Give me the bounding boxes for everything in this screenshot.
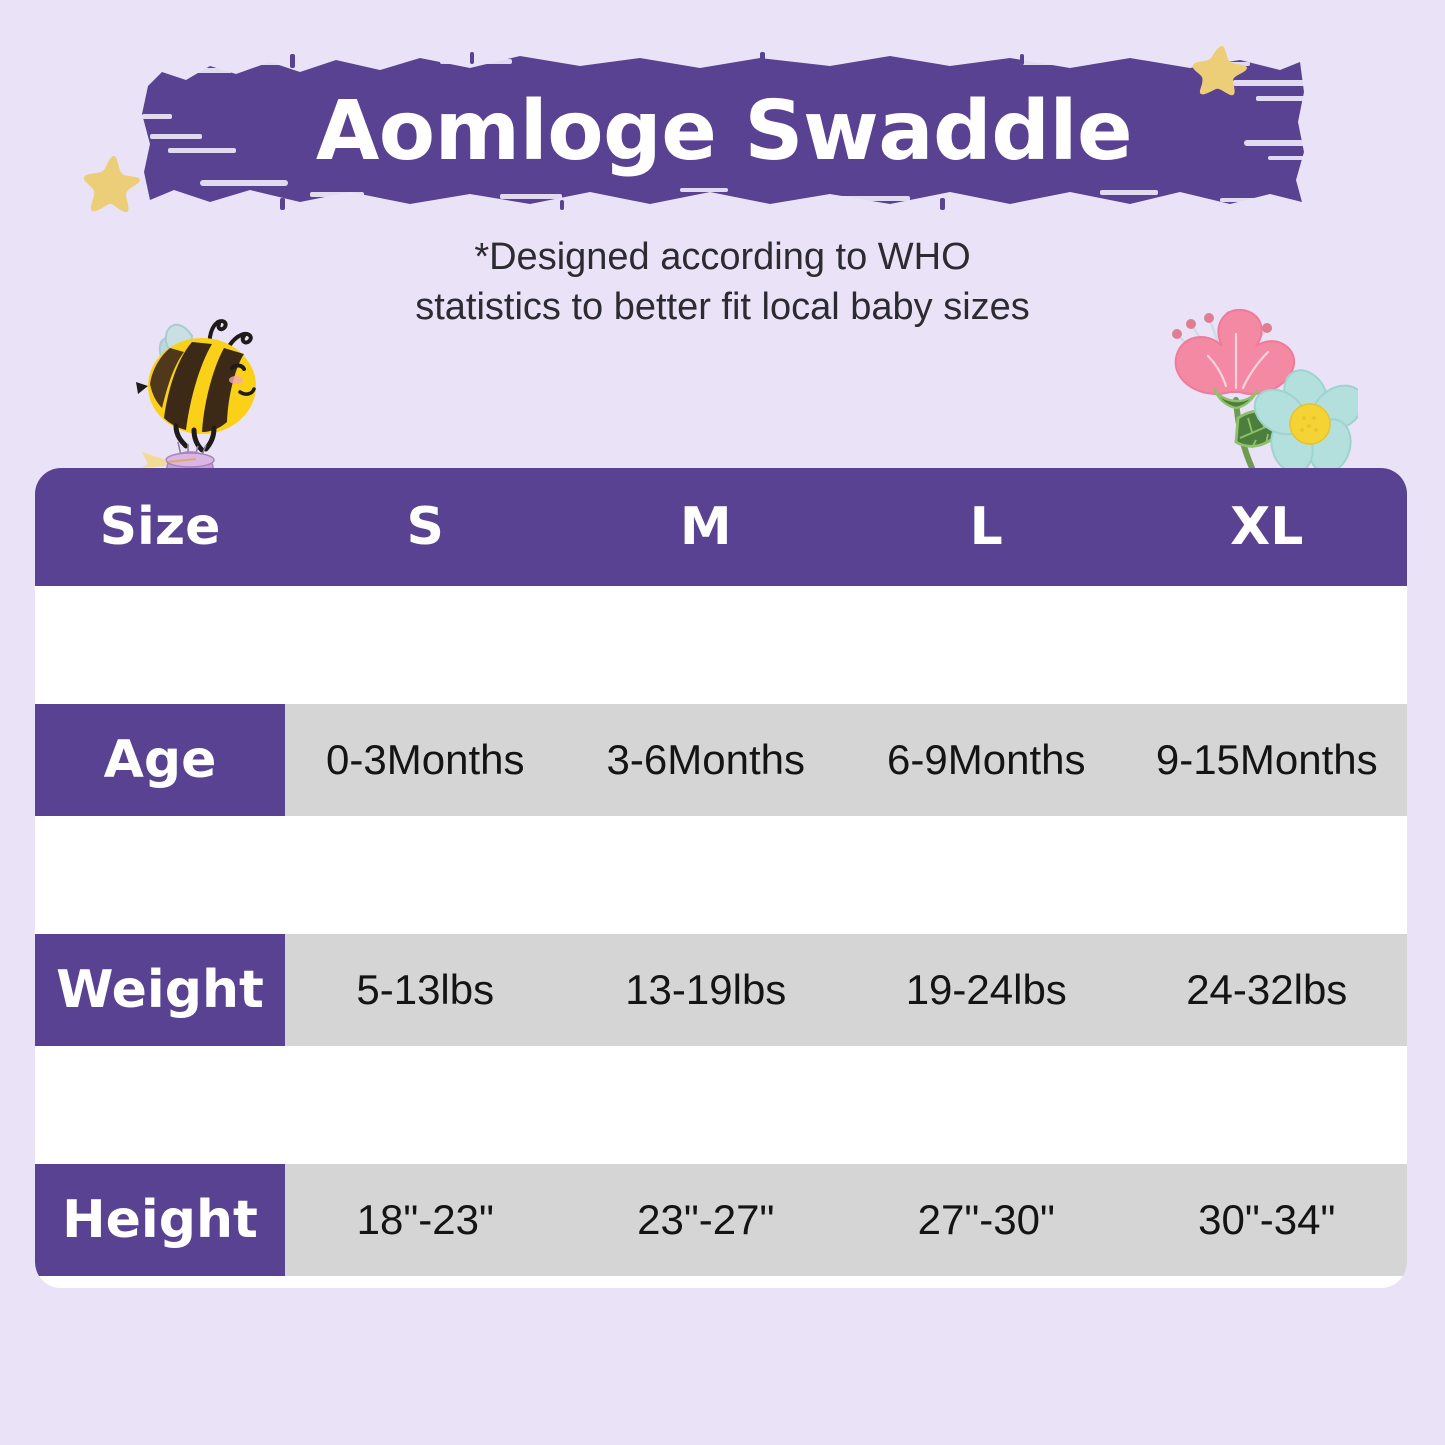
cell-height-l: 27"-30" [846,1164,1127,1276]
table-spacer-row [35,586,1407,704]
cell-age-m: 3-6Months [566,704,847,816]
star-icon [82,152,146,216]
cell-weight-xl: 24-32lbs [1127,934,1408,1046]
cell-age-xl: 9-15Months [1127,704,1408,816]
cell-weight-m: 13-19lbs [566,934,847,1046]
cell-height-m: 23"-27" [566,1164,847,1276]
size-chart-table: Size S M L XL Age 0-3Months 3-6Months 6-… [35,468,1407,1288]
page-title: Aomloge Swaddle [140,52,1308,210]
flowers-illustration [1148,300,1358,482]
table-row: Age 0-3Months 3-6Months 6-9Months 9-15Mo… [35,704,1407,816]
row-label-age: Age [35,704,285,816]
header-cell-m: M [566,468,847,586]
header-cell-xl: XL [1127,468,1408,586]
cell-age-l: 6-9Months [846,704,1127,816]
header-area: Aomloge Swaddle *Designed according to W… [0,0,1445,360]
table-spacer-row [35,1046,1407,1164]
header-cell-s: S [285,468,566,586]
row-label-height: Height [35,1164,285,1276]
cell-weight-s: 5-13lbs [285,934,566,1046]
header-cell-l: L [846,468,1127,586]
cell-height-s: 18"-23" [285,1164,566,1276]
row-label-weight: Weight [35,934,285,1046]
star-icon [1192,44,1252,96]
cell-weight-l: 19-24lbs [846,934,1127,1046]
table-row: Weight 5-13lbs 13-19lbs 19-24lbs 24-32lb… [35,934,1407,1046]
header-cell-size: Size [35,468,285,586]
table-row: Height 18"-23" 23"-27" 27"-30" 30"-34" [35,1164,1407,1276]
cell-height-xl: 30"-34" [1127,1164,1408,1276]
cell-age-s: 0-3Months [285,704,566,816]
subtitle-line-1: *Designed according to WHO [0,232,1445,282]
table-spacer-row [35,816,1407,934]
table-header-row: Size S M L XL [35,468,1407,586]
bee-illustration [132,302,272,484]
